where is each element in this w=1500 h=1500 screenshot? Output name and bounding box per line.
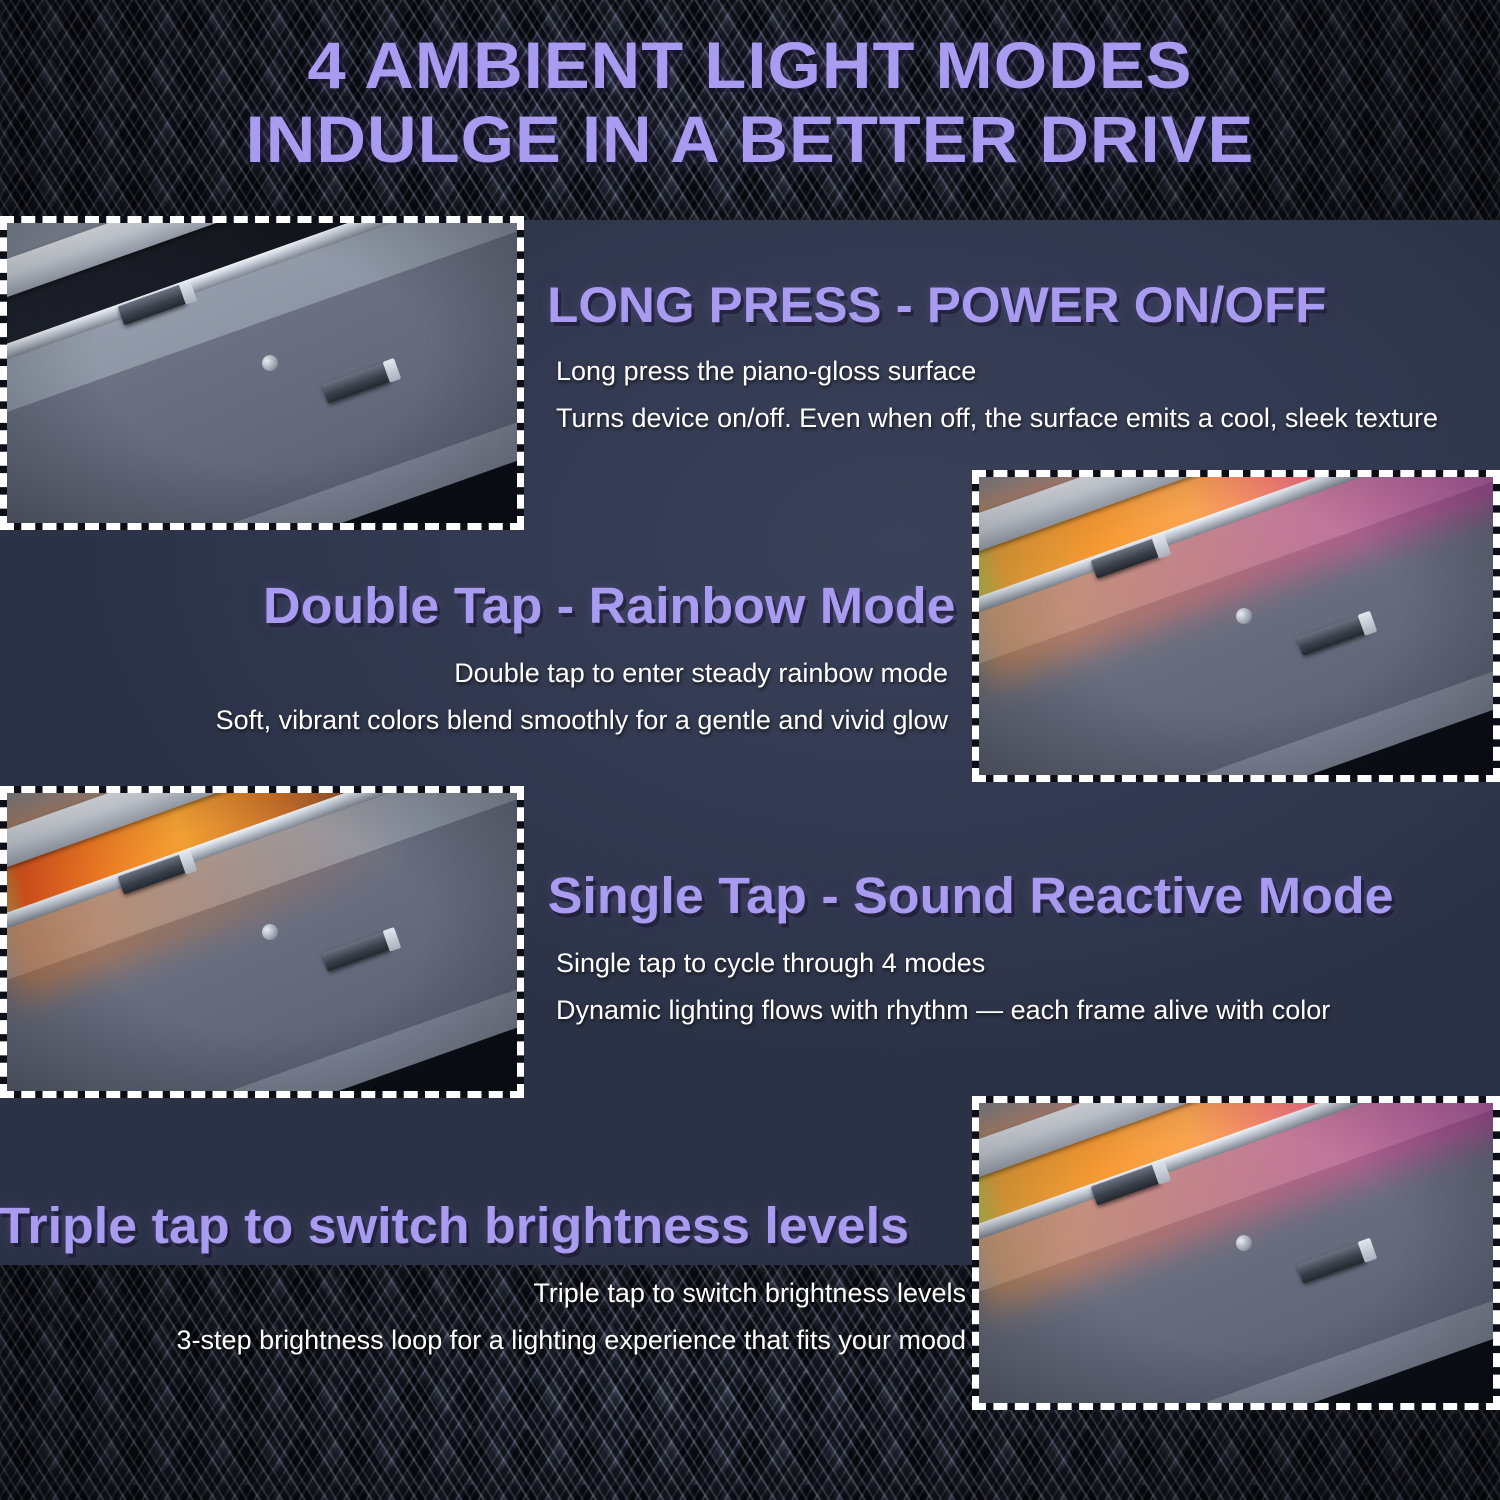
feature-subline: Turns device on/off. Even when off, the …: [556, 395, 1438, 442]
feature-block-triple-tap: Triple tap to switch brightness levels T…: [8, 1196, 966, 1364]
feature-description-long-press: Long press the piano-gloss surface Turns…: [556, 348, 1438, 442]
feature-subline: Double tap to enter steady rainbow mode: [188, 650, 948, 697]
photo-power-off: [0, 216, 524, 530]
photo-vignette: [979, 477, 1493, 775]
feature-block-long-press: LONG PRESS - POWER ON/OFF Long press the…: [556, 276, 1438, 442]
feature-title-long-press: LONG PRESS - POWER ON/OFF: [547, 276, 1447, 334]
dashboard-scene: [979, 477, 1493, 775]
feature-subline: Soft, vibrant colors blend smoothly for …: [188, 697, 948, 744]
dashboard-scene: [7, 793, 517, 1091]
feature-title-triple-tap: Triple tap to switch brightness levels: [0, 1196, 976, 1256]
feature-subline: Dynamic lighting flows with rhythm — eac…: [556, 987, 1385, 1034]
photo-vignette: [7, 793, 517, 1091]
feature-description-single-tap: Single tap to cycle through 4 modes Dyna…: [556, 940, 1385, 1034]
header-title: 4 AMBIENT LIGHT MODES INDULGE IN A BETTE…: [0, 28, 1500, 176]
feature-subline: Triple tap to switch brightness levels: [8, 1270, 966, 1317]
feature-subline: 3-step brightness loop for a lighting ex…: [8, 1317, 966, 1364]
product-infographic: 4 AMBIENT LIGHT MODES INDULGE IN A BETTE…: [0, 0, 1500, 1500]
header-line-2: INDULGE IN A BETTER DRIVE: [0, 102, 1500, 176]
photo-vignette: [7, 223, 517, 523]
dashboard-scene: [979, 1103, 1493, 1403]
photo-vignette: [979, 1103, 1493, 1403]
dashboard-scene: [7, 223, 517, 523]
feature-block-double-tap: Double Tap - Rainbow Mode Double tap to …: [188, 576, 948, 744]
photo-rainbow: [972, 470, 1500, 782]
photo-sound-reactive: [0, 786, 524, 1098]
feature-block-single-tap: Single Tap - Sound Reactive Mode Single …: [556, 866, 1385, 1034]
feature-title-single-tap: Single Tap - Sound Reactive Mode: [548, 866, 1394, 926]
feature-description-triple-tap: Triple tap to switch brightness levels 3…: [8, 1270, 966, 1364]
feature-subline: Long press the piano-gloss surface: [556, 348, 1438, 395]
feature-title-double-tap: Double Tap - Rainbow Mode: [180, 576, 955, 636]
feature-subline: Single tap to cycle through 4 modes: [556, 940, 1385, 987]
header-line-1: 4 AMBIENT LIGHT MODES: [0, 28, 1500, 102]
photo-brightness: [972, 1096, 1500, 1410]
feature-description-double-tap: Double tap to enter steady rainbow mode …: [188, 650, 948, 744]
